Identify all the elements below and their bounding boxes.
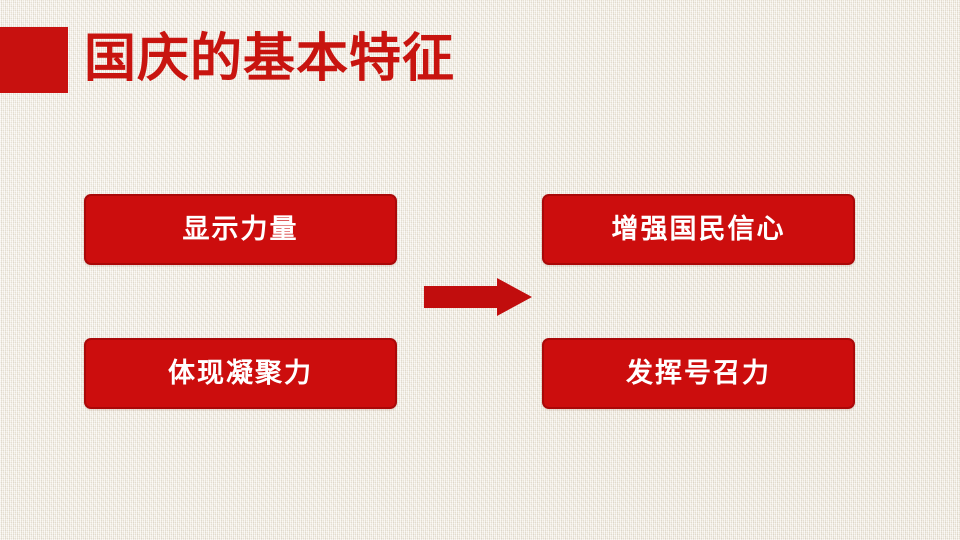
card-label: 增强国民信心 <box>612 216 786 243</box>
card-label: 发挥号召力 <box>626 360 771 387</box>
card-label: 显示力量 <box>183 216 299 243</box>
card-embody-cohesion[interactable]: 体现凝聚力 <box>84 338 397 409</box>
card-show-strength[interactable]: 显示力量 <box>84 194 397 265</box>
slide-canvas: 国庆的基本特征 显示力量 体现凝聚力 增强国民信心 发挥号召力 <box>0 0 960 540</box>
title-accent-block <box>0 27 68 93</box>
right-arrow-icon <box>424 278 532 316</box>
card-boost-confidence[interactable]: 增强国民信心 <box>542 194 855 265</box>
card-label: 体现凝聚力 <box>168 360 313 387</box>
page-title: 国庆的基本特征 <box>84 24 455 94</box>
card-exert-appeal[interactable]: 发挥号召力 <box>542 338 855 409</box>
